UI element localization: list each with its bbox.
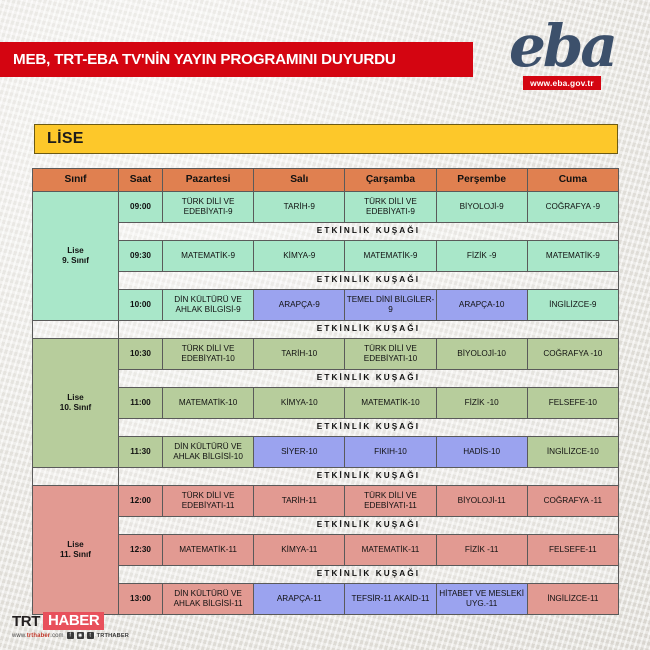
lesson-cell-elective: ARAPÇA-11 (254, 584, 345, 615)
lesson-cell: TÜRK DİLİ VE EDEBİYATI-9 (163, 192, 254, 223)
lesson-cell: TÜRK DİLİ VE EDEBİYATI-9 (345, 192, 436, 223)
lesson-cell: BİYOLOJİ-11 (436, 486, 527, 517)
table-row: 10:00DİN KÜLTÜRÜ VE AHLAK BİLGİSİ-9ARAPÇ… (33, 290, 619, 321)
table-row: Lise10. Sınıf10:30TÜRK DİLİ VE EDEBİYATI… (33, 339, 619, 370)
grade-label-cell: Lise10. Sınıf (33, 339, 119, 468)
activity-separator-label: ETKİNLİK KUŞAĞI (119, 223, 619, 241)
grade-label-line2: 9. Sınıf (62, 256, 89, 265)
trt-website: www.trthaber.com (12, 633, 64, 639)
table-row: Lise9. Sınıf09:00TÜRK DİLİ VE EDEBİYATI-… (33, 192, 619, 223)
col-header-wednesday: Çarşamba (345, 169, 436, 192)
separator-spacer-cell (33, 321, 119, 339)
lesson-cell: KİMYA-10 (254, 388, 345, 419)
headline-banner: MEB, TRT-EBA TV'NİN YAYIN PROGRAMINI DUY… (0, 42, 473, 77)
infographic-page: MEB, TRT-EBA TV'NİN YAYIN PROGRAMINI DUY… (0, 0, 650, 650)
lesson-cell: MATEMATİK-11 (163, 535, 254, 566)
lesson-cell: DİN KÜLTÜRÜ VE AHLAK BİLGİSİ-11 (163, 584, 254, 615)
col-header-saat: Saat (119, 169, 163, 192)
lesson-cell: COĞRAFYA -10 (527, 339, 618, 370)
lesson-cell: TÜRK DİLİ VE EDEBİYATI-11 (163, 486, 254, 517)
lesson-cell-elective: ARAPÇA-10 (436, 290, 527, 321)
eba-url-badge: www.eba.gov.tr (523, 76, 601, 90)
grade-label-line1: Lise (67, 393, 83, 402)
time-cell: 12:00 (119, 486, 163, 517)
headline-text: MEB, TRT-EBA TV'NİN YAYIN PROGRAMINI DUY… (0, 51, 396, 68)
schedule-body: Lise9. Sınıf09:00TÜRK DİLİ VE EDEBİYATI-… (33, 192, 619, 615)
time-cell: 10:00 (119, 290, 163, 321)
table-header-row: Sınıf Saat Pazartesi Salı Çarşamba Perşe… (33, 169, 619, 192)
activity-separator-row: ETKİNLİK KUŞAĞI (33, 321, 619, 339)
grade-label-line2: 10. Sınıf (60, 403, 91, 412)
lesson-cell-elective: HADİS-10 (436, 437, 527, 468)
haber-wordmark: HABER (43, 612, 104, 630)
lesson-cell: MATEMATİK-9 (527, 241, 618, 272)
separator-spacer-cell (33, 468, 119, 486)
lesson-cell: COĞRAFYA -11 (527, 486, 618, 517)
grade-label-line1: Lise (67, 246, 83, 255)
lesson-cell: BİYOLOJİ-10 (436, 339, 527, 370)
lesson-cell: TARİH-9 (254, 192, 345, 223)
lesson-cell: MATEMATİK-10 (345, 388, 436, 419)
grade-label-cell: Lise11. Sınıf (33, 486, 119, 615)
lesson-cell: TÜRK DİLİ VE EDEBİYATI-10 (163, 339, 254, 370)
lesson-cell: FİZİK -9 (436, 241, 527, 272)
lesson-cell: FELSEFE-11 (527, 535, 618, 566)
trt-wordmark: TRT (12, 613, 40, 630)
section-banner-label: LİSE (35, 130, 84, 148)
eba-logo: eba www.eba.gov.tr (492, 18, 632, 100)
table-row: 11:30DİN KÜLTÜRÜ VE AHLAK BİLGİSİ-10SİYE… (33, 437, 619, 468)
activity-separator-row: ETKİNLİK KUŞAĞI (33, 566, 619, 584)
time-cell: 10:30 (119, 339, 163, 370)
lesson-cell: BİYOLOJİ-9 (436, 192, 527, 223)
lesson-cell: KİMYA-11 (254, 535, 345, 566)
lesson-cell: TARİH-11 (254, 486, 345, 517)
lesson-cell-elective: TEMEL DİNİ BİLGİLER-9 (345, 290, 436, 321)
activity-separator-row: ETKİNLİK KUŞAĞI (33, 223, 619, 241)
table-row: 12:30MATEMATİK-11KİMYA-11MATEMATİK-11FİZ… (33, 535, 619, 566)
time-cell: 11:00 (119, 388, 163, 419)
time-cell: 11:30 (119, 437, 163, 468)
lesson-cell: MATEMATİK-9 (345, 241, 436, 272)
activity-separator-label: ETKİNLİK KUŞAĞI (119, 566, 619, 584)
lesson-cell: FİZİK -10 (436, 388, 527, 419)
table-row: Lise11. Sınıf12:00TÜRK DİLİ VE EDEBİYATI… (33, 486, 619, 517)
lesson-cell-elective: SİYER-10 (254, 437, 345, 468)
activity-separator-label: ETKİNLİK KUŞAĞI (119, 468, 619, 486)
lesson-cell: TÜRK DİLİ VE EDEBİYATI-11 (345, 486, 436, 517)
activity-separator-label: ETKİNLİK KUŞAĞI (119, 370, 619, 388)
trt-handle: TRTHABER (97, 633, 129, 639)
col-header-tuesday: Salı (254, 169, 345, 192)
table-row: 11:00MATEMATİK-10KİMYA-10MATEMATİK-10FİZ… (33, 388, 619, 419)
lesson-cell-elective: FIKIH-10 (345, 437, 436, 468)
activity-separator-row: ETKİNLİK KUŞAĞI (33, 517, 619, 535)
lesson-cell: İNGİLİZCE-10 (527, 437, 618, 468)
lesson-cell: MATEMATİK-9 (163, 241, 254, 272)
activity-separator-label: ETKİNLİK KUŞAĞI (119, 517, 619, 535)
activity-separator-row: ETKİNLİK KUŞAĞI (33, 468, 619, 486)
lesson-cell: İNGİLİZCE-9 (527, 290, 618, 321)
activity-separator-row: ETKİNLİK KUŞAĞI (33, 370, 619, 388)
time-cell: 13:00 (119, 584, 163, 615)
activity-separator-label: ETKİNLİK KUŞAĞI (119, 321, 619, 339)
trt-haber-logo: TRT HABER www.trthaber.com f ◉ t TRTHABE… (12, 612, 129, 639)
activity-separator-row: ETKİNLİK KUŞAĞI (33, 272, 619, 290)
instagram-icon: ◉ (77, 632, 84, 639)
grade-label-cell: Lise9. Sınıf (33, 192, 119, 321)
col-header-sinif: Sınıf (33, 169, 119, 192)
time-cell: 09:00 (119, 192, 163, 223)
lesson-cell-elective: TEFSİR-11 AKAİD-11 (345, 584, 436, 615)
lesson-cell-elective: HİTABET VE MESLEKİ UYG.-11 (436, 584, 527, 615)
col-header-friday: Cuma (527, 169, 618, 192)
lesson-cell: MATEMATİK-11 (345, 535, 436, 566)
time-cell: 09:30 (119, 241, 163, 272)
col-header-monday: Pazartesi (163, 169, 254, 192)
activity-separator-label: ETKİNLİK KUŞAĞI (119, 419, 619, 437)
schedule-table: Sınıf Saat Pazartesi Salı Çarşamba Perşe… (32, 168, 619, 615)
grade-label-line2: 11. Sınıf (60, 550, 91, 559)
lesson-cell: DİN KÜLTÜRÜ VE AHLAK BİLGİSİ-10 (163, 437, 254, 468)
lesson-cell: MATEMATİK-10 (163, 388, 254, 419)
lesson-cell-elective: ARAPÇA-9 (254, 290, 345, 321)
activity-separator-row: ETKİNLİK KUŞAĞI (33, 419, 619, 437)
col-header-thursday: Perşembe (436, 169, 527, 192)
lesson-cell: FELSEFE-10 (527, 388, 618, 419)
lesson-cell: TÜRK DİLİ VE EDEBİYATI-10 (345, 339, 436, 370)
lesson-cell: İNGİLİZCE-11 (527, 584, 618, 615)
table-row: 09:30MATEMATİK-9KİMYA-9MATEMATİK-9FİZİK … (33, 241, 619, 272)
eba-wordmark: eba (509, 18, 615, 74)
lesson-cell: COĞRAFYA -9 (527, 192, 618, 223)
lesson-cell: FİZİK -11 (436, 535, 527, 566)
lesson-cell: TARİH-10 (254, 339, 345, 370)
grade-label-line1: Lise (67, 540, 83, 549)
lesson-cell: KİMYA-9 (254, 241, 345, 272)
activity-separator-label: ETKİNLİK KUŞAĞI (119, 272, 619, 290)
facebook-icon: f (67, 632, 74, 639)
table-row: 13:00DİN KÜLTÜRÜ VE AHLAK BİLGİSİ-11ARAP… (33, 584, 619, 615)
twitter-icon: t (87, 632, 94, 639)
time-cell: 12:30 (119, 535, 163, 566)
lesson-cell: DİN KÜLTÜRÜ VE AHLAK BİLGİSİ-9 (163, 290, 254, 321)
section-banner-lise: LİSE (34, 124, 618, 154)
